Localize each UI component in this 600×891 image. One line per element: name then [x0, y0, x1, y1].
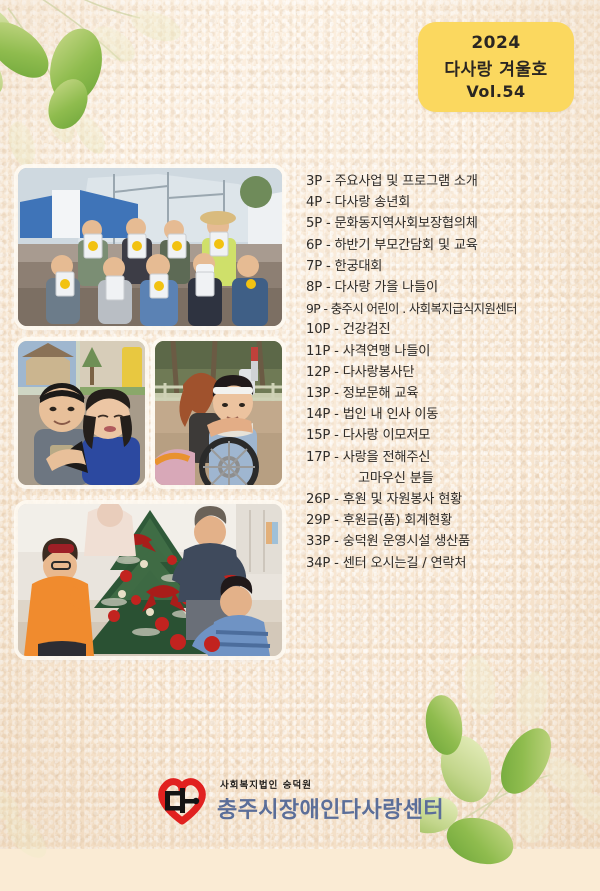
toc-page-number: 8P: [306, 280, 322, 295]
wheelchair-outing-photo: [155, 341, 282, 485]
toc-entry[interactable]: 14P - 법인 내 인사 이동: [306, 404, 594, 425]
table-of-contents: 3P - 주요사업 및 프로그램 소개4P - 다사랑 송년회5P - 문화동지…: [306, 171, 594, 574]
toc-entry[interactable]: 12P - 다사랑봉사단: [306, 362, 594, 383]
toc-entry[interactable]: 7P - 한궁대회: [306, 256, 594, 277]
toc-page-number: 26P: [306, 492, 330, 507]
toc-dash: -: [330, 534, 343, 549]
toc-page-number: 7P: [306, 259, 322, 274]
toc-entry[interactable]: 29P - 후원금(품) 회계현황: [306, 510, 594, 531]
toc-entry[interactable]: 10P - 건강검진: [306, 319, 594, 340]
toc-entry-label: 정보문해 교육: [343, 386, 419, 401]
toc-dash: -: [330, 407, 343, 422]
toc-page-number: 34P: [306, 556, 330, 571]
toc-page-number: 6P: [306, 238, 322, 253]
toc-entry-label: 사랑을 전해주신: [343, 450, 431, 465]
toc-page-number: 10P: [306, 322, 330, 337]
toc-entry[interactable]: 33P - 숭덕원 운영시설 생산품: [306, 531, 594, 552]
toc-entry[interactable]: 15P - 다사랑 이모저모: [306, 425, 594, 446]
toc-dash: -: [330, 428, 343, 443]
toc-page-number: 4P: [306, 195, 322, 210]
toc-entry-label: 충주시 어린이 . 사회복지급식지원센터: [331, 301, 517, 316]
toc-entry[interactable]: 11P - 사격연맹 나들이: [306, 341, 594, 362]
toc-page-number: 5P: [306, 216, 322, 231]
toc-entry-label: 다사랑 가을 나들이: [335, 280, 438, 295]
toc-dash: -: [322, 259, 335, 274]
toc-dash: -: [330, 365, 343, 380]
footer-logo: 사회복지법인 숭덕원 충주시장애인다사랑센터: [0, 775, 600, 825]
toc-entry-label: 다사랑 송년회: [335, 195, 411, 210]
footer-logo-text: 사회복지법인 숭덕원 충주시장애인다사랑센터: [217, 777, 444, 824]
toc-dash: -: [330, 386, 343, 401]
toc-page-number: 13P: [306, 386, 330, 401]
toc-dash: -: [330, 322, 343, 337]
issue-volume: Vol.54: [466, 82, 525, 101]
toc-entry-label: 숭덕원 운영시설 생산품: [343, 534, 470, 549]
toc-page-number: 15P: [306, 428, 330, 443]
toc-entry-label: 고마우신 분들: [358, 471, 434, 486]
toc-dash: -: [330, 450, 343, 465]
toc-dash: -: [330, 513, 343, 528]
toc-entry-label: 사격연맹 나들이: [343, 344, 431, 359]
toc-page-number: 12P: [306, 365, 330, 380]
toc-entry-label: 건강검진: [343, 322, 391, 337]
toc-page-number: 11P: [306, 344, 330, 359]
toc-entry-label: 주요사업 및 프로그램 소개: [335, 174, 478, 189]
toc-dash: -: [322, 195, 335, 210]
corporation-name: 사회복지법인 숭덕원: [217, 777, 444, 791]
toc-entry-label: 문화동지역사회보장협의체: [335, 216, 478, 231]
toc-dash: -: [322, 216, 335, 231]
toc-entry[interactable]: 5P - 문화동지역사회보장협의체: [306, 213, 594, 234]
couple-portrait-photo: [18, 341, 145, 485]
heart-da-logo-icon: [156, 775, 208, 825]
toc-entry[interactable]: 4P - 다사랑 송년회: [306, 192, 594, 213]
toc-entry[interactable]: 3P - 주요사업 및 프로그램 소개: [306, 171, 594, 192]
toc-entry[interactable]: 8P - 다사랑 가을 나들이: [306, 277, 594, 298]
toc-dash: -: [320, 301, 331, 316]
toc-entry[interactable]: 고마우신 분들: [306, 468, 594, 489]
christmas-tree-photo: [18, 504, 282, 656]
toc-page-number: 14P: [306, 407, 330, 422]
toc-entry-label: 한궁대회: [335, 259, 383, 274]
toc-entry-label: 다사랑봉사단: [343, 365, 415, 380]
toc-entry[interactable]: 26P - 후원 및 자원봉사 현황: [306, 489, 594, 510]
toc-entry[interactable]: 6P - 하반기 부모간담회 및 교육: [306, 235, 594, 256]
issue-badge: 2024 다사랑 겨울호 Vol.54: [418, 22, 574, 112]
toc-dash: -: [330, 492, 343, 507]
toc-entry-label: 센터 오시는길 / 연락처: [343, 556, 467, 571]
toc-dash: -: [330, 344, 343, 359]
toc-entry-label: 후원금(품) 회계현황: [343, 513, 452, 528]
toc-entry-label: 하반기 부모간담회 및 교육: [335, 238, 478, 253]
toc-entry[interactable]: 17P - 사랑을 전해주신: [306, 447, 594, 468]
toc-entry[interactable]: 9P - 충주시 어린이 . 사회복지급식지원센터: [306, 298, 594, 319]
toc-page-number: 33P: [306, 534, 330, 549]
group-outdoor-photo: [18, 168, 282, 326]
toc-dash: -: [322, 238, 335, 253]
toc-page-number: 17P: [306, 450, 330, 465]
toc-page-number: 29P: [306, 513, 330, 528]
issue-title: 다사랑 겨울호: [444, 55, 547, 80]
toc-dash: -: [322, 280, 335, 295]
toc-entry[interactable]: 13P - 정보문해 교육: [306, 383, 594, 404]
toc-entry-label: 다사랑 이모저모: [343, 428, 431, 443]
issue-year: 2024: [471, 33, 520, 53]
toc-page-number: 3P: [306, 174, 322, 189]
toc-dash: -: [322, 174, 335, 189]
toc-entry-label: 법인 내 인사 이동: [343, 407, 439, 422]
center-name: 충주시장애인다사랑센터: [217, 792, 444, 824]
toc-dash: -: [330, 556, 343, 571]
toc-entry[interactable]: 34P - 센터 오시는길 / 연락처: [306, 553, 594, 574]
toc-entry-label: 후원 및 자원봉사 현황: [343, 492, 462, 507]
toc-page-number: 9P: [306, 301, 320, 316]
